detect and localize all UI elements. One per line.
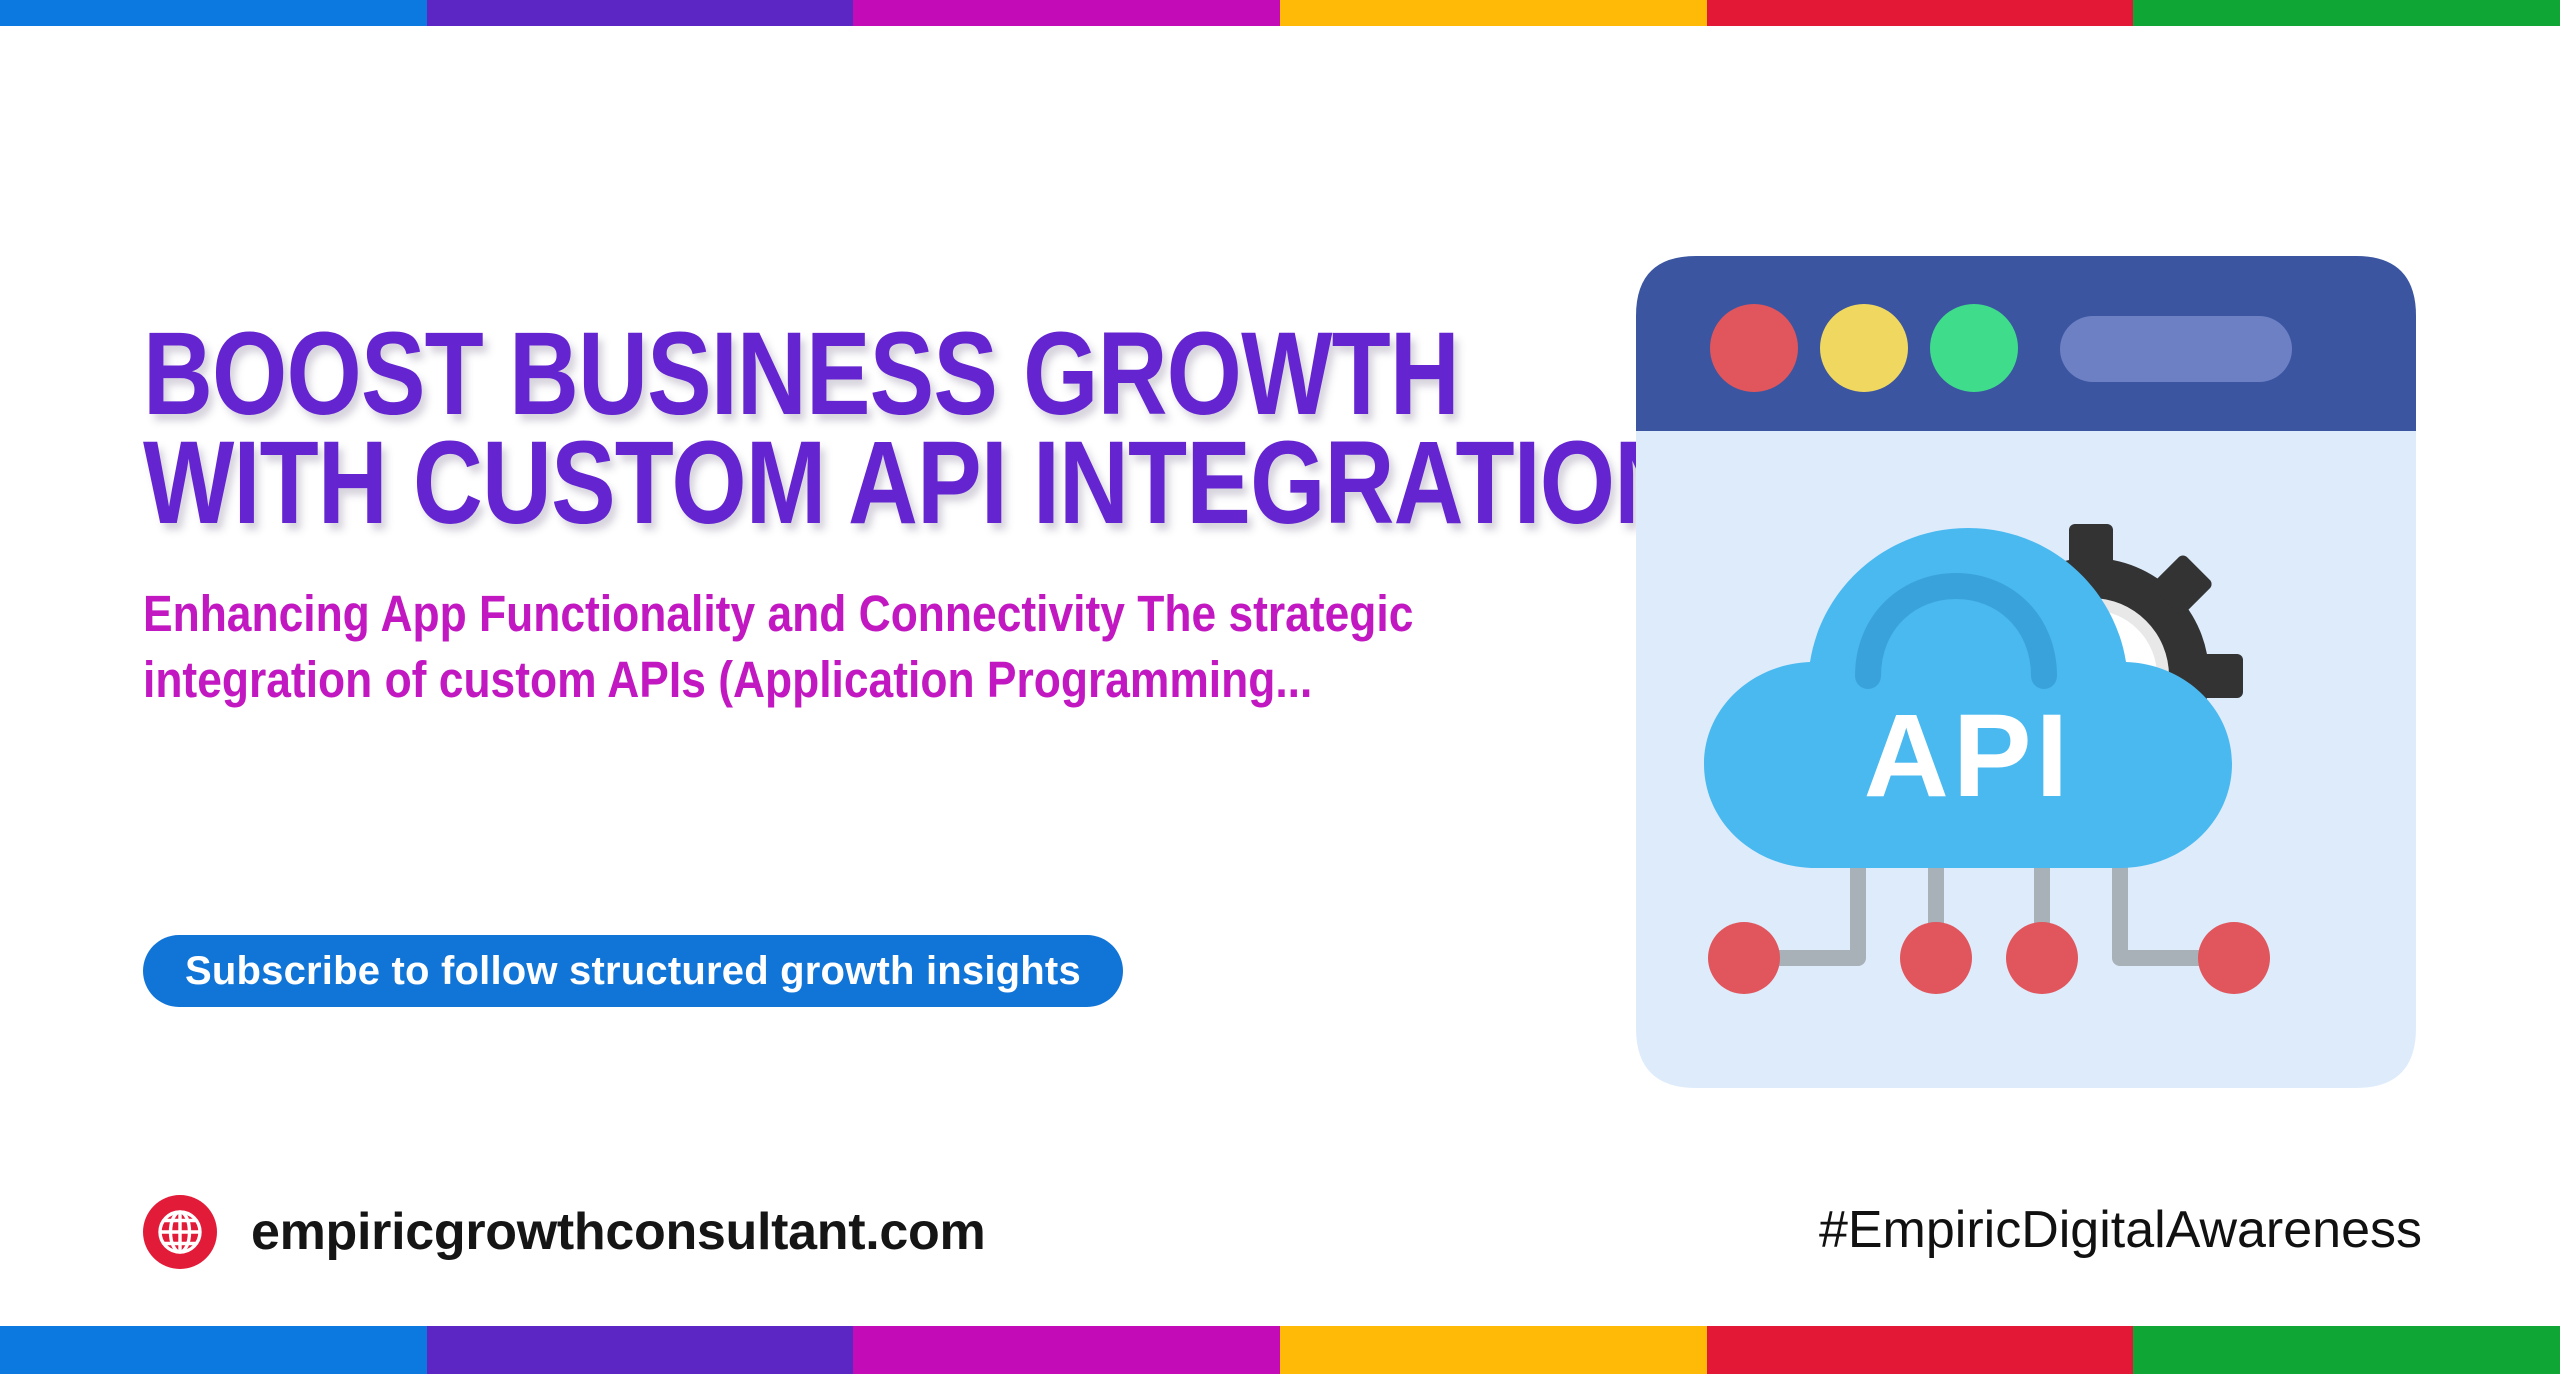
bottom-color-bar: [0, 1326, 2560, 1374]
color-segment-red: [1707, 0, 2134, 26]
api-cloud-browser-illustration: API: [1636, 256, 2416, 1088]
headline-line-2: WITH CUSTOM API INTEGRATION: [143, 429, 1324, 538]
traffic-light-red-icon: [1710, 304, 1798, 392]
subscribe-button[interactable]: Subscribe to follow structured growth in…: [143, 935, 1123, 1007]
color-segment-red: [1707, 1326, 2134, 1374]
traffic-light-yellow-icon: [1820, 304, 1908, 392]
subtitle: Enhancing App Functionality and Connecti…: [143, 581, 1396, 714]
color-segment-purple: [427, 0, 854, 26]
domain-text: empiricgrowthconsultant.com: [251, 1202, 985, 1262]
traffic-light-green-icon: [1930, 304, 2018, 392]
footer-domain-group[interactable]: empiricgrowthconsultant.com: [143, 1195, 985, 1269]
color-segment-yellow: [1280, 1326, 1707, 1374]
top-color-bar: [0, 0, 2560, 26]
address-bar: [2060, 316, 2292, 382]
hero-text-column: BOOST BUSINESS GROWTH WITH CUSTOM API IN…: [143, 320, 1583, 714]
color-segment-green: [2133, 0, 2560, 26]
headline-line-1: BOOST BUSINESS GROWTH: [143, 320, 1324, 429]
color-segment-blue: [0, 1326, 427, 1374]
color-segment-magenta: [853, 0, 1280, 26]
subtitle-line-2: integration of custom APIs (Application …: [143, 647, 1396, 713]
marketing-banner: BOOST BUSINESS GROWTH WITH CUSTOM API IN…: [0, 0, 2560, 1374]
globe-icon: [143, 1195, 217, 1269]
connector-node: [1900, 922, 1972, 994]
color-segment-blue: [0, 0, 427, 26]
connector-node: [2006, 922, 2078, 994]
hashtag-text: #EmpiricDigitalAwareness: [1819, 1200, 2422, 1260]
color-segment-yellow: [1280, 0, 1707, 26]
connector-node: [2198, 922, 2270, 994]
api-label: API: [1864, 690, 2073, 822]
page-title: BOOST BUSINESS GROWTH WITH CUSTOM API IN…: [143, 320, 1324, 537]
color-segment-green: [2133, 1326, 2560, 1374]
subtitle-line-1: Enhancing App Functionality and Connecti…: [143, 581, 1396, 647]
color-segment-magenta: [853, 1326, 1280, 1374]
color-segment-purple: [427, 1326, 854, 1374]
connector-node: [1708, 922, 1780, 994]
